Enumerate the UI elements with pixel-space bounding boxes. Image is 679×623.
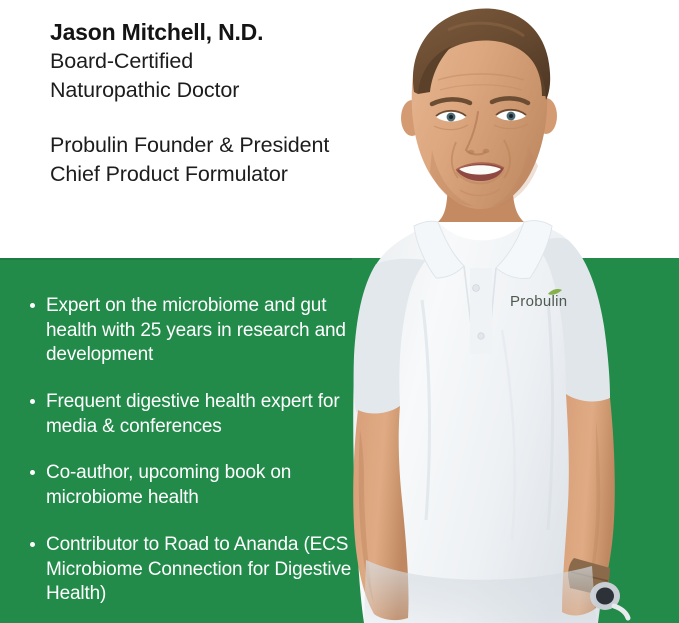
shirt-logo-text: Probulin — [510, 293, 567, 310]
list-item-text: Expert on the microbiome and gut health … — [46, 295, 346, 365]
pupil-right — [509, 114, 513, 118]
list-item-text: Co-author, upcoming book on microbiome h… — [46, 462, 291, 508]
list-item: Expert on the microbiome and gut health … — [26, 294, 371, 368]
list-item: Frequent digestive health expert for med… — [26, 390, 371, 439]
nostril-right — [483, 149, 490, 153]
list-item-text: Contributor to Road to Ananda (ECS & Mic… — [46, 534, 366, 604]
portrait-photo: Probulin — [352, 0, 679, 623]
bio-card: Jason Mitchell, N.D. Board-Certified Nat… — [0, 0, 679, 623]
pupil-left — [449, 115, 453, 119]
bullet-dot-icon — [30, 470, 35, 475]
bullet-dot-icon — [30, 399, 35, 404]
credentials-bullet-list: Expert on the microbiome and gut health … — [26, 294, 371, 607]
bullet-dot-icon — [30, 542, 35, 547]
bullet-dot-icon — [30, 303, 35, 308]
nostril-left — [468, 150, 475, 154]
shirt-button-top — [473, 285, 480, 292]
placket-panel — [470, 268, 492, 354]
shirt-button-bottom — [478, 333, 484, 339]
list-item: Co-author, upcoming book on microbiome h… — [26, 461, 371, 510]
list-item-text: Frequent digestive health expert for med… — [46, 391, 340, 437]
portrait-illustration: Probulin — [352, 0, 679, 623]
list-item: Contributor to Road to Ananda (ECS & Mic… — [26, 533, 371, 607]
watch-dial — [596, 588, 614, 605]
